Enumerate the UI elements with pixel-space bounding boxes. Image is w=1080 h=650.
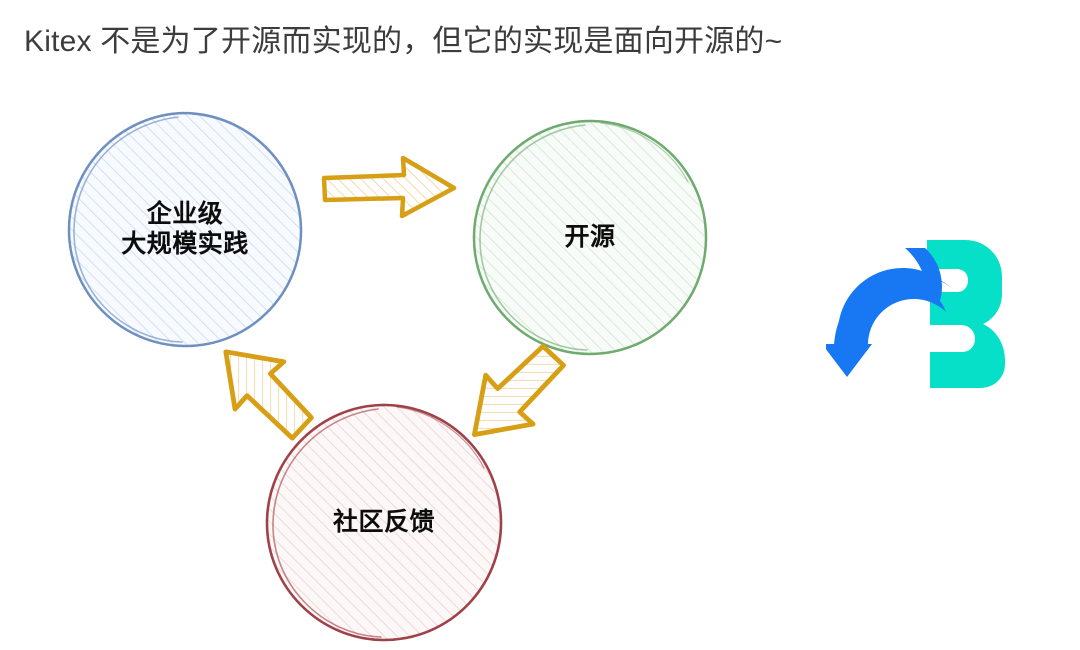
node-enterprise-label: 企业级 大规模实践 — [121, 199, 249, 260]
page-title: Kitex 不是为了开源而实现的，但它的实现是面向开源的~ — [24, 22, 1054, 62]
slide-canvas: Kitex 不是为了开源而实现的，但它的实现是面向开源的~ 企业级 大规模实践 — [0, 0, 1080, 650]
node-enterprise[interactable]: 企业级 大规模实践 — [60, 104, 310, 354]
arrow-enterprise-to-opensource — [318, 148, 463, 228]
node-feedback[interactable]: 社区反馈 — [258, 396, 510, 648]
node-feedback-label: 社区反馈 — [333, 507, 435, 538]
kitex-logo-teal-shape — [927, 240, 1005, 388]
kitex-logo — [826, 232, 1006, 390]
node-opensource[interactable]: 开源 — [465, 112, 715, 362]
node-opensource-label: 开源 — [564, 222, 615, 253]
